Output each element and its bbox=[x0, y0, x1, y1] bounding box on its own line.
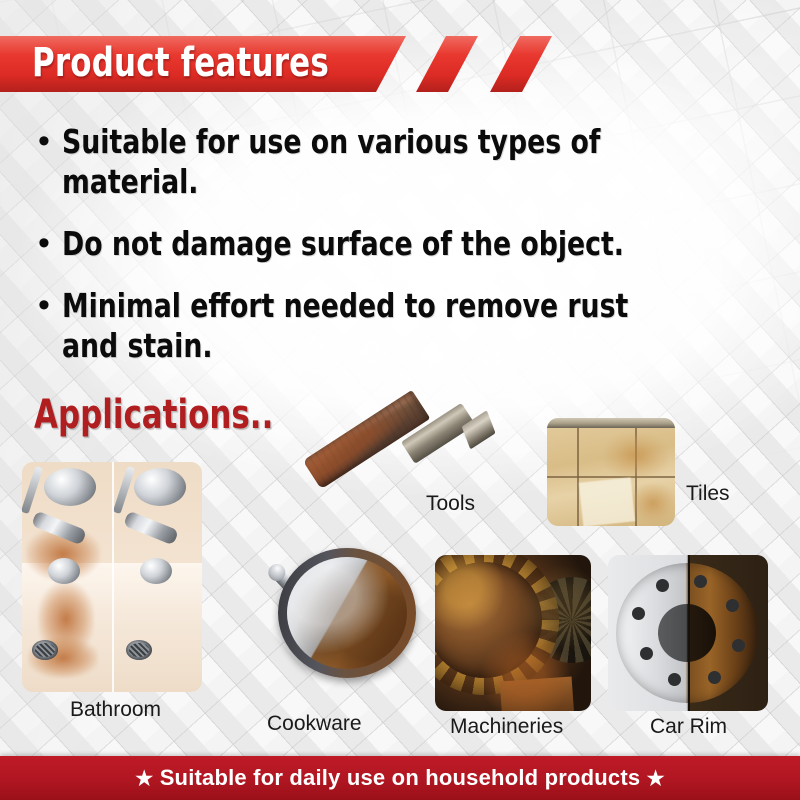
application-machineries: Machineries bbox=[435, 555, 591, 711]
application-label-tiles: Tiles bbox=[686, 482, 730, 506]
rim-hub-bore bbox=[658, 604, 716, 662]
application-label-car-rim: Car Rim bbox=[650, 715, 727, 739]
faucet-escutcheon bbox=[44, 468, 96, 506]
tile-stain bbox=[605, 434, 667, 478]
lug-hole bbox=[732, 639, 745, 652]
lug-hole bbox=[694, 575, 707, 588]
footer-banner: ★ Suitable for daily use on household pr… bbox=[0, 756, 800, 800]
lug-hole bbox=[726, 599, 739, 612]
before-after-divider bbox=[112, 462, 114, 692]
bullet-icon: • bbox=[38, 122, 62, 160]
page-title: Product features bbox=[32, 36, 329, 92]
header-accent-stripe-2 bbox=[490, 36, 552, 92]
footer-banner-text: ★ Suitable for daily use on household pr… bbox=[135, 765, 665, 791]
rust-texture-overlay bbox=[435, 555, 591, 711]
before-after-divider bbox=[688, 555, 690, 711]
application-label-bathroom: Bathroom bbox=[70, 698, 161, 722]
application-tools: Tools bbox=[300, 414, 510, 520]
product-features-poster: Product features • Suitable for use on v… bbox=[0, 0, 800, 800]
faucet-handle bbox=[48, 558, 80, 584]
sink-drain bbox=[126, 640, 152, 660]
tile-stain bbox=[631, 484, 675, 522]
application-label-cookware: Cookware bbox=[267, 712, 362, 736]
star-icon-left: ★ bbox=[135, 768, 153, 790]
tile-baseboard bbox=[547, 418, 675, 428]
lug-hole bbox=[632, 607, 645, 620]
lug-hole bbox=[640, 647, 653, 660]
sink-drain bbox=[32, 640, 58, 660]
header-accent-stripe-1 bbox=[416, 36, 478, 92]
faucet-escutcheon bbox=[134, 468, 186, 506]
application-label-tools: Tools bbox=[426, 492, 475, 516]
feature-item: • Minimal effort needed to remove rust a… bbox=[38, 286, 738, 366]
footer-text: Suitable for daily use on household prod… bbox=[160, 765, 641, 790]
grout-line bbox=[577, 428, 579, 526]
pan-body bbox=[278, 548, 416, 678]
pan-interior-split bbox=[287, 557, 407, 669]
lug-hole bbox=[668, 673, 681, 686]
machineries-photo bbox=[435, 555, 591, 711]
bathroom-photo bbox=[22, 462, 202, 692]
bullet-icon: • bbox=[38, 286, 62, 324]
feature-text: Minimal effort needed to remove rust and… bbox=[62, 286, 670, 366]
car-rim-photo bbox=[608, 555, 768, 711]
application-bathroom: Bathroom bbox=[22, 462, 202, 692]
application-label-machineries: Machineries bbox=[450, 715, 563, 739]
lug-hole bbox=[708, 671, 721, 684]
application-tiles: Tiles bbox=[547, 418, 737, 526]
bullet-icon: • bbox=[38, 224, 62, 262]
feature-text: Do not damage surface of the object. bbox=[62, 224, 670, 264]
application-cookware: Cookware bbox=[242, 546, 432, 742]
application-car-rim: Car Rim bbox=[608, 555, 768, 711]
feature-item: • Suitable for use on various types of m… bbox=[38, 122, 738, 202]
feature-text: Suitable for use on various types of mat… bbox=[62, 122, 670, 202]
faucet-handle bbox=[140, 558, 172, 584]
lug-hole bbox=[656, 579, 669, 592]
tile-cleaned-patch bbox=[579, 477, 635, 526]
star-icon-right: ★ bbox=[647, 768, 665, 790]
feature-item: • Do not damage surface of the object. bbox=[38, 224, 738, 264]
tiles-photo bbox=[547, 418, 675, 526]
rim-face bbox=[616, 563, 758, 703]
applications-heading: Applications.. bbox=[34, 392, 273, 438]
feature-list: • Suitable for use on various types of m… bbox=[38, 122, 738, 388]
